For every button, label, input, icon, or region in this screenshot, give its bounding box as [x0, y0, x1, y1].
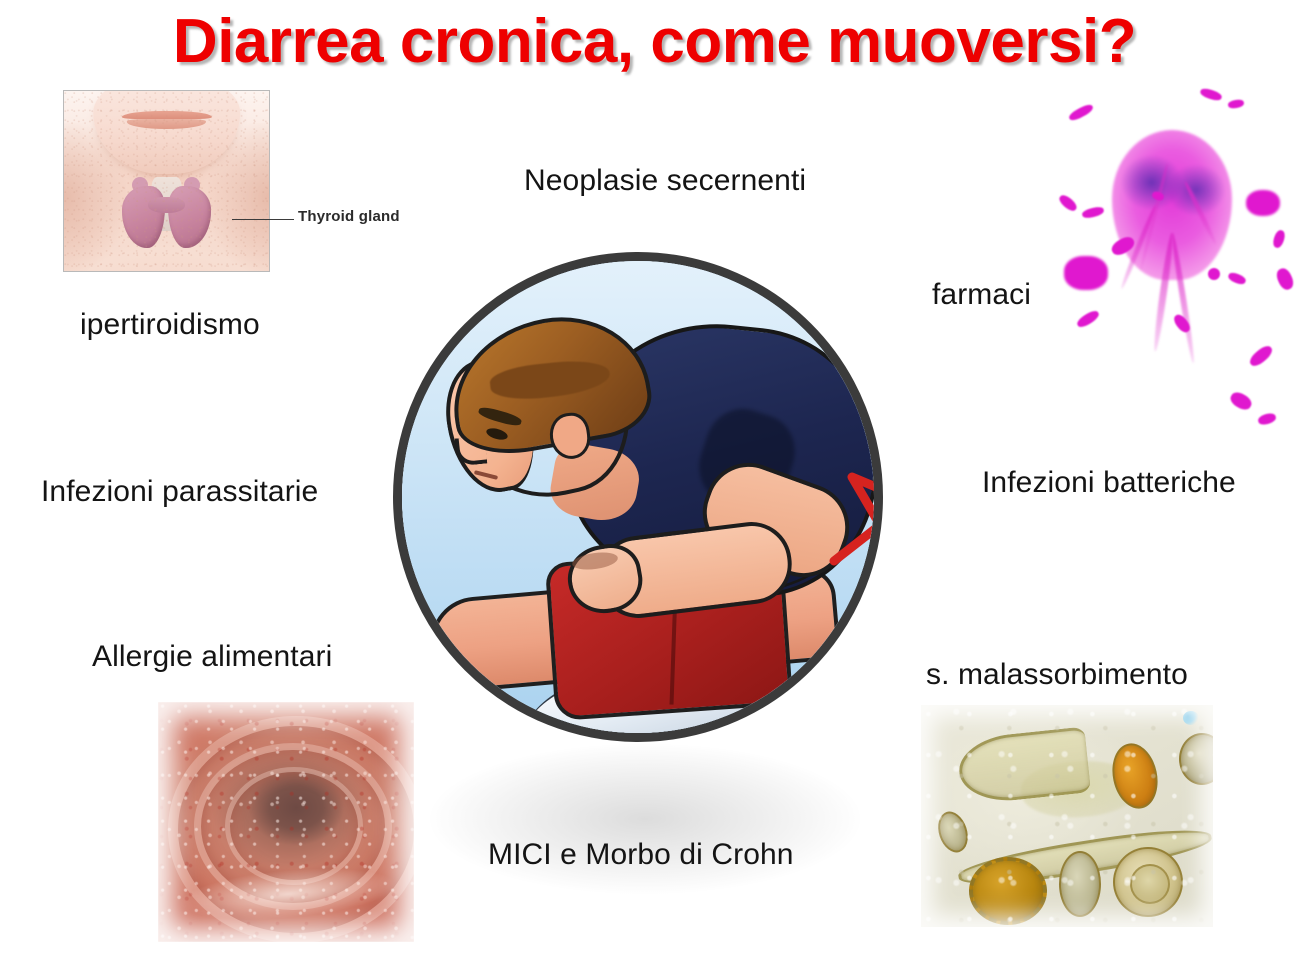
abdominal-pain-indicator-icon: [794, 365, 883, 595]
thyroid-callout-leader-line: [232, 219, 294, 220]
bacillus-2: [1199, 87, 1223, 102]
bacillus-1: [1067, 102, 1094, 122]
bacillus-9: [1274, 266, 1296, 292]
colon-image-vignette: [158, 702, 414, 942]
label-farmaci: farmaci: [932, 278, 1031, 312]
label-s-malassorbimento: s. malassorbimento: [926, 658, 1188, 692]
label-neoplasie-secernenti: Neoplasie secernenti: [524, 164, 806, 198]
label-infezioni-batteriche: Infezioni batteriche: [982, 466, 1236, 500]
parasitology-micrograph-image: [921, 705, 1213, 927]
label-allergie-alimentari: Allergie alimentari: [92, 640, 332, 674]
bacillus-13: [1247, 343, 1275, 369]
bacillus-8: [1271, 229, 1286, 249]
slide-canvas: Diarrea cronica, come muoversi? Thyroid …: [0, 0, 1309, 975]
bacillus-cluster-left: [1064, 256, 1108, 290]
label-mici-morbo-di-crohn: MICI e Morbo di Crohn: [488, 838, 794, 872]
giardia-micrograph-image: [1052, 82, 1304, 442]
man-with-abdominal-pain-illustration: [393, 252, 883, 742]
thyroid-anatomy-image: [63, 90, 270, 272]
skin-texture-overlay: [64, 91, 269, 271]
micrograph-vignette: [921, 705, 1213, 927]
bacillus-cluster-right: [1246, 190, 1280, 216]
label-ipertiroidismo: ipertiroidismo: [80, 308, 260, 342]
bacillus-5: [1081, 205, 1105, 219]
colonoscopy-image: [158, 702, 414, 942]
bacillus-4: [1057, 193, 1079, 214]
bacillus-14: [1228, 389, 1254, 412]
giardia-trophozoite-body: [1112, 130, 1232, 280]
bacillus-6: [1208, 268, 1220, 280]
bacillus-3: [1227, 99, 1244, 110]
thyroid-gland-callout-label: Thyroid gland: [298, 208, 400, 225]
bacillus-7: [1227, 271, 1247, 286]
label-infezioni-parassitarie: Infezioni parassitarie: [41, 475, 318, 509]
bacillus-15: [1257, 412, 1277, 427]
page-title: Diarrea cronica, come muoversi?: [0, 6, 1309, 77]
bacillus-10: [1075, 308, 1101, 329]
